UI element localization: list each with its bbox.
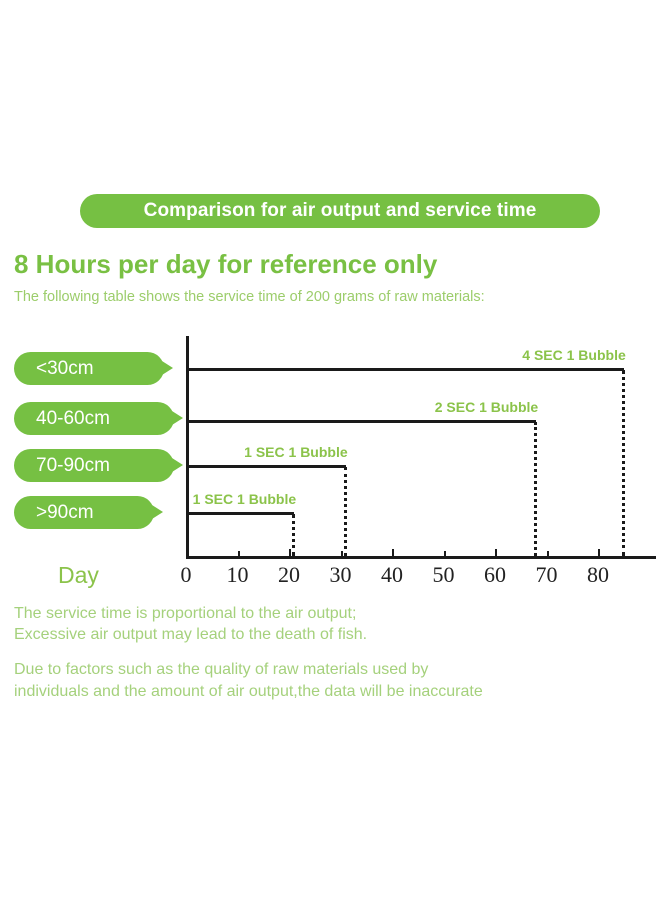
badge-pointer-icon	[172, 411, 183, 425]
bar-rule	[186, 512, 294, 515]
category-badge: <30cm	[14, 352, 164, 385]
x-axis-tick-label: 80	[587, 562, 609, 588]
x-axis-tick	[186, 549, 188, 557]
header-title-text: Comparison for air output and service ti…	[144, 200, 537, 222]
x-axis-tick-label: 40	[381, 562, 403, 588]
bar-value-label: 1 SEC 1 Bubble	[193, 491, 296, 507]
x-axis-tick-label: 30	[330, 562, 352, 588]
x-axis-tick-label: 70	[536, 562, 558, 588]
category-badge-label: 70-90cm	[36, 455, 110, 477]
category-badge: 70-90cm	[14, 449, 174, 482]
category-badge-label: 40-60cm	[36, 408, 110, 430]
x-axis-tick-label: 50	[433, 562, 455, 588]
bar-value-label: 2 SEC 1 Bubble	[435, 399, 538, 415]
x-axis-line	[186, 556, 656, 559]
x-axis-tick	[598, 549, 600, 557]
badge-pointer-icon	[172, 458, 183, 472]
service-time-bar-chart: <30cm40-60cm70-90cm>90cm 4 SEC 1 Bubble2…	[0, 330, 660, 585]
note-line-2: Excessive air output may lead to the dea…	[14, 624, 367, 645]
category-badge-label: >90cm	[36, 502, 94, 524]
bar-drop-line	[622, 370, 625, 556]
bar-rule	[186, 420, 536, 423]
bar-rule	[186, 368, 624, 371]
note-line-3: Due to factors such as the quality of ra…	[14, 659, 428, 680]
x-axis-tick	[289, 549, 291, 557]
note-line-4: individuals and the amount of air output…	[14, 681, 483, 702]
x-axis-tick	[495, 549, 497, 557]
x-axis-tick	[547, 551, 549, 557]
x-axis-tick	[392, 549, 394, 557]
service-time-comparison-infographic: { "header": { "pill_title": "Comparison …	[0, 0, 660, 900]
bar-drop-line	[292, 514, 295, 556]
x-axis-tick	[444, 551, 446, 557]
x-axis-tick-label: 10	[227, 562, 249, 588]
x-axis-tick-label: 20	[278, 562, 300, 588]
header-title-pill: Comparison for air output and service ti…	[80, 194, 600, 228]
badge-pointer-icon	[162, 361, 173, 375]
bar-drop-line	[534, 422, 537, 556]
x-axis-tick	[341, 551, 343, 557]
x-axis-title: Day	[58, 562, 99, 589]
bar-value-label: 1 SEC 1 Bubble	[244, 444, 347, 460]
x-axis-tick-label: 60	[484, 562, 506, 588]
x-axis-tick-label: 0	[181, 562, 192, 588]
note-line-1: The service time is proportional to the …	[14, 603, 356, 624]
badge-pointer-icon	[152, 505, 163, 519]
x-axis-tick	[238, 551, 240, 557]
bar-rule	[186, 465, 346, 468]
bar-value-label: 4 SEC 1 Bubble	[522, 347, 625, 363]
category-badge-label: <30cm	[36, 358, 94, 380]
category-badge: >90cm	[14, 496, 154, 529]
bar-drop-line	[344, 467, 347, 556]
intro-description: The following table shows the service ti…	[14, 289, 485, 305]
page-subtitle: 8 Hours per day for reference only	[14, 249, 437, 280]
category-badge: 40-60cm	[14, 402, 174, 435]
